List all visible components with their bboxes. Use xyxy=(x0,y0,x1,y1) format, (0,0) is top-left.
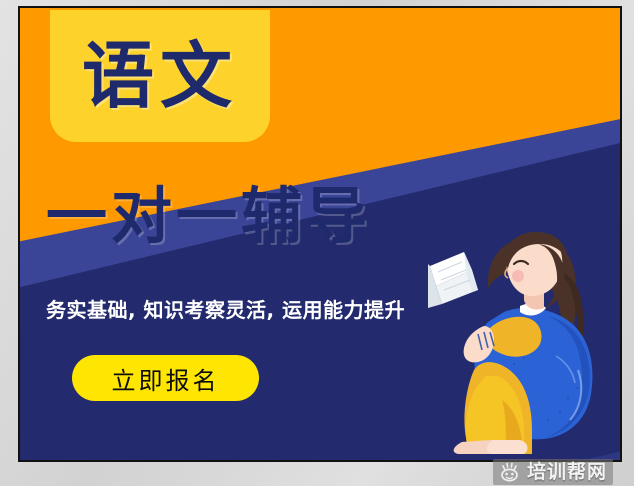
signup-button[interactable]: 立即报名 xyxy=(72,355,259,401)
subject-badge-label: 语文 xyxy=(82,40,238,112)
poster-canvas: 语文 一对一辅导 务实基础, 知识考察灵活, 运用能力提升 立即报名 xyxy=(20,8,620,460)
poster-subtitle: 务实基础, 知识考察灵活, 运用能力提升 xyxy=(46,300,405,320)
girl-reading-book-illustration xyxy=(428,230,620,460)
promo-poster-card: 语文 一对一辅导 务实基础, 知识考察灵活, 运用能力提升 立即报名 xyxy=(18,6,622,462)
site-watermark: 培训帮网 xyxy=(493,459,613,485)
poster-screenshot: 语文 一对一辅导 务实基础, 知识考察灵活, 运用能力提升 立即报名 xyxy=(0,0,634,486)
smiley-sun-icon xyxy=(499,462,521,482)
watermark-text: 培训帮网 xyxy=(527,463,607,482)
subject-badge: 语文 xyxy=(50,10,270,142)
poster-headline: 一对一辅导 xyxy=(46,186,371,247)
